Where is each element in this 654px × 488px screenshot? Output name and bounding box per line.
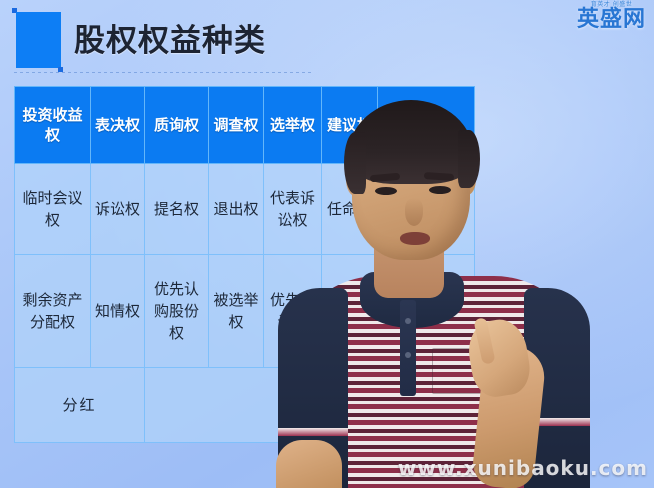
table-cell: 诉讼权 [91, 164, 145, 255]
presenter-placket [400, 300, 416, 396]
table-cell: 优先认购股份权 [145, 255, 209, 368]
table-header-cell: 投资收益权 [15, 87, 91, 164]
presenter-sideburn-left [344, 132, 366, 194]
video-frame: 股权权益种类 投资收益权 表决权 质询权 调查权 选举权 建议权 监督权 [0, 0, 654, 488]
table-cell: 被选举权 [209, 255, 264, 368]
table-header-cell: 选举权 [264, 87, 322, 164]
table-cell: 知情权 [91, 255, 145, 368]
presenter-nose [405, 198, 423, 226]
title-square-marker-icon [16, 12, 61, 68]
presenter-cuff-left [278, 428, 348, 436]
table-header-cell: 表决权 [91, 87, 145, 164]
presenter-eye-left [375, 187, 397, 195]
table-header-cell: 调查权 [209, 87, 264, 164]
site-watermark: www.xunibaoku.com [398, 456, 648, 480]
table-cell: 提名权 [145, 164, 209, 255]
table-cell: 代表诉讼权 [264, 164, 322, 255]
table-cell: 剩余资产分配权 [15, 255, 91, 368]
title-underline-guide [14, 72, 314, 73]
presenter-button-icon [405, 318, 411, 324]
table-cell: 退出权 [209, 164, 264, 255]
presenter-forearm-left [276, 440, 342, 488]
presenter-mouth [400, 232, 430, 245]
brand-logo: 育英才 创盛世 英盛网 [577, 2, 646, 31]
brand-name: 英盛网 [577, 9, 646, 31]
presenter-button-icon [405, 352, 411, 358]
table-header-cell: 质询权 [145, 87, 209, 164]
presenter-eye-right [429, 186, 451, 194]
presenter-sideburn-right [458, 130, 480, 188]
slide-title: 股权权益种类 [74, 16, 266, 66]
summary-cell-dividend: 分红 [15, 368, 145, 443]
table-cell: 临时会议权 [15, 164, 91, 255]
